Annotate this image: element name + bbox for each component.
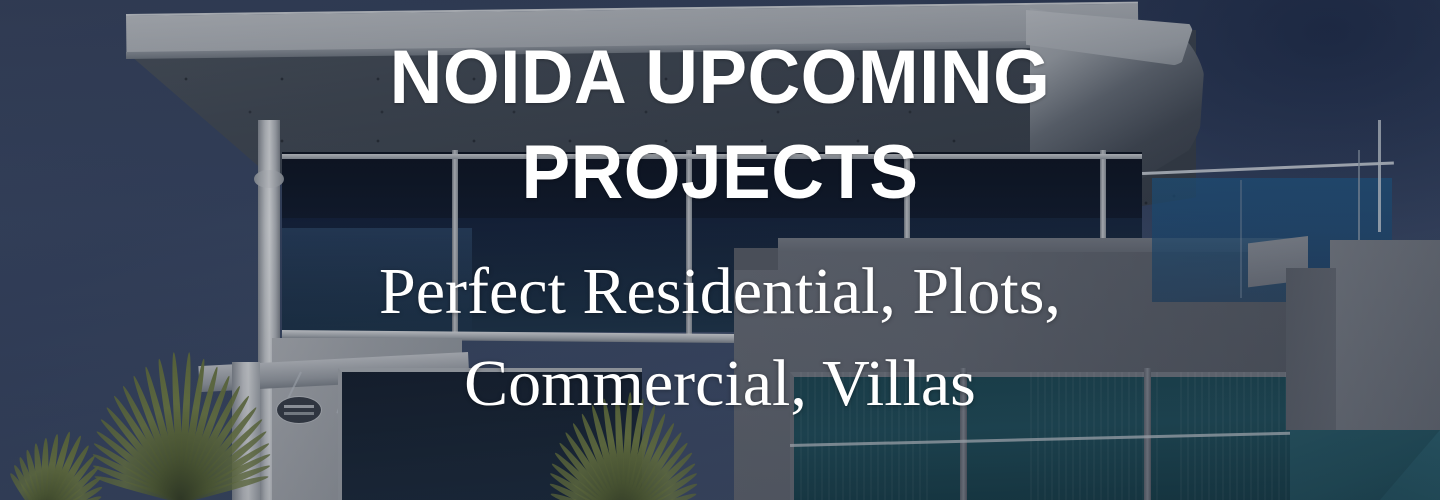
- upper-window-reflection: [282, 228, 472, 332]
- window-header-rail: [282, 154, 1142, 159]
- parapet-wall: [1330, 240, 1440, 430]
- balcony-post: [1378, 120, 1381, 232]
- upper-window-shadow: [282, 152, 1142, 218]
- balcony-glass-joint: [1240, 180, 1242, 298]
- parapet-wall-side: [1286, 268, 1336, 430]
- window-mullion: [452, 150, 458, 336]
- hero-banner: Noida Upcoming Projects Perfect Resident…: [0, 0, 1440, 500]
- window-blind: [800, 372, 930, 500]
- balcony-post: [1358, 150, 1360, 246]
- wall-plaque: [276, 396, 322, 424]
- window-mullion: [686, 150, 692, 336]
- window-mullion: [960, 368, 967, 500]
- background-photo: [0, 0, 1440, 500]
- support-column-collar: [254, 170, 284, 188]
- facade-wall-step: [734, 248, 778, 270]
- window-mullion: [1144, 368, 1151, 500]
